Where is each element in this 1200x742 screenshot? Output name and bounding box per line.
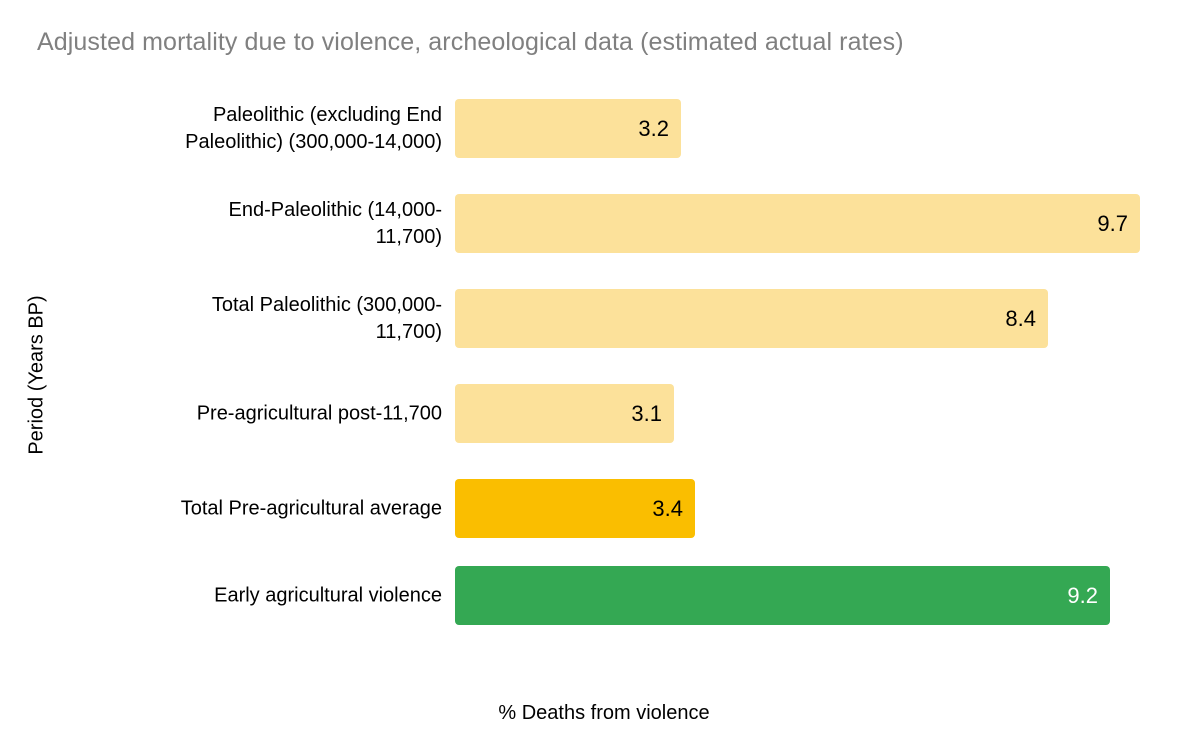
category-label-line: Total Pre-agricultural average: [22, 495, 442, 522]
category-label-line: 11,700): [22, 224, 442, 251]
bar-row: Pre-agricultural post-11,700 3.1: [0, 384, 1200, 443]
category-label-line: End-Paleolithic (14,000-: [22, 197, 442, 224]
x-axis-title-container: % Deaths from violence: [0, 702, 1200, 725]
bar-chart: Adjusted mortality due to violence, arch…: [0, 0, 1200, 742]
bar-row: Early agricultural violence 9.2: [0, 566, 1200, 625]
bar-value-label: 3.2: [638, 116, 669, 142]
bar-row: Paleolithic (excluding End Paleolithic) …: [0, 99, 1200, 158]
category-label: Pre-agricultural post-11,700: [22, 400, 442, 427]
category-label-line: Paleolithic (excluding End: [22, 102, 442, 129]
bar-end-paleolithic[interactable]: 9.7: [455, 194, 1140, 253]
category-label-line: Paleolithic) (300,000-14,000): [22, 129, 442, 156]
bar-value-label: 9.7: [1097, 211, 1128, 237]
bar-total-paleolithic[interactable]: 8.4: [455, 289, 1048, 348]
bar-value-label: 8.4: [1005, 306, 1036, 332]
bar-row: End-Paleolithic (14,000- 11,700) 9.7: [0, 194, 1200, 253]
bar-early-agricultural-violence[interactable]: 9.2: [455, 566, 1110, 625]
bar-value-label: 9.2: [1067, 583, 1098, 609]
bar-pre-agricultural-post-11700[interactable]: 3.1: [455, 384, 674, 443]
bar-row: Total Paleolithic (300,000- 11,700) 8.4: [0, 289, 1200, 348]
category-label: Early agricultural violence: [22, 582, 442, 609]
bar-value-label: 3.1: [631, 401, 662, 427]
bar-total-pre-agricultural-average[interactable]: 3.4: [455, 479, 695, 538]
category-label: Total Pre-agricultural average: [22, 495, 442, 522]
x-axis-title: % Deaths from violence: [498, 702, 709, 725]
category-label-line: Early agricultural violence: [22, 582, 442, 609]
bar-row: Total Pre-agricultural average 3.4: [0, 479, 1200, 538]
bar-paleolithic-excluding-end[interactable]: 3.2: [455, 99, 681, 158]
category-label-line: Pre-agricultural post-11,700: [22, 400, 442, 427]
category-label-line: 11,700): [22, 319, 442, 346]
category-label-line: Total Paleolithic (300,000-: [22, 292, 442, 319]
category-label: End-Paleolithic (14,000- 11,700): [22, 197, 442, 251]
bar-value-label: 3.4: [652, 496, 683, 522]
category-label: Total Paleolithic (300,000- 11,700): [22, 292, 442, 346]
category-label: Paleolithic (excluding End Paleolithic) …: [22, 102, 442, 156]
plot-area: Paleolithic (excluding End Paleolithic) …: [0, 0, 1200, 680]
